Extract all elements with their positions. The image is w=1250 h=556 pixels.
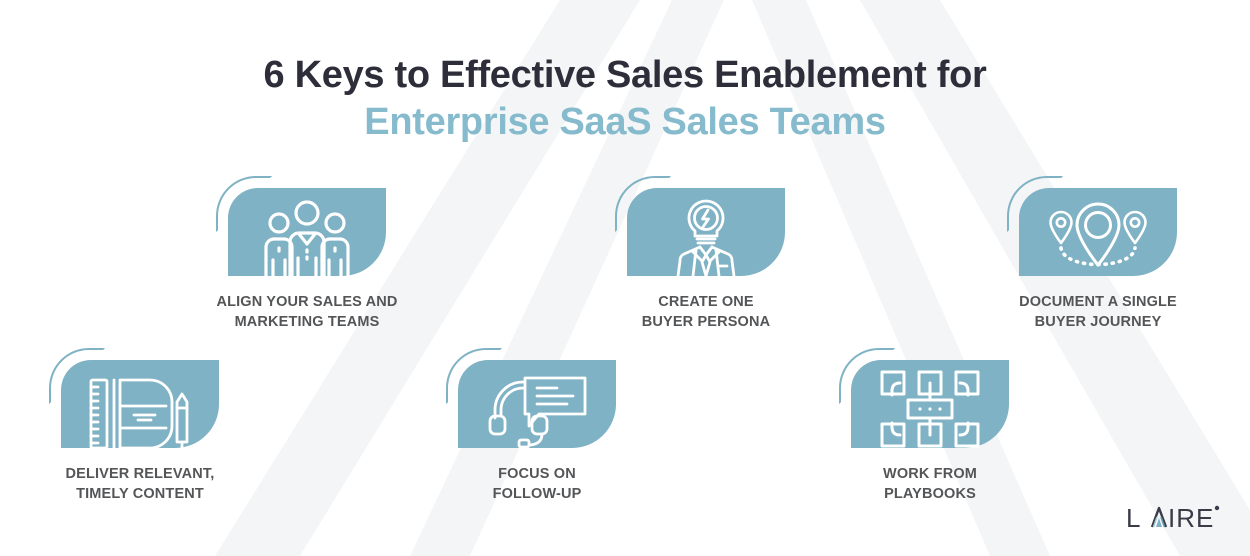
key-label-6: WORK FROM PLAYBOOKS xyxy=(800,464,1060,504)
key-label-wrap-6: WORK FROM PLAYBOOKS xyxy=(800,448,1060,504)
key-item-2[interactable]: CREATE ONE BUYER PERSONA xyxy=(627,188,785,276)
key-label-line2: PLAYBOOKS xyxy=(800,484,1060,504)
key-item-4[interactable]: DELIVER RELEVANT, TIMELY CONTENT xyxy=(61,360,219,448)
key-item-1[interactable]: ALIGN YOUR SALES AND MARKETING TEAMS xyxy=(228,188,386,276)
key-card-2 xyxy=(627,188,785,276)
logo-a-mark xyxy=(1152,508,1166,527)
laire-logo[interactable]: L IRE xyxy=(1126,503,1222,533)
key-label-wrap-2: CREATE ONE BUYER PERSONA xyxy=(576,276,836,332)
key-label-line2: BUYER PERSONA xyxy=(576,312,836,332)
key-label-wrap-5: FOCUS ON FOLLOW-UP xyxy=(407,448,667,504)
title-line-primary: 6 Keys to Effective Sales Enablement for xyxy=(0,52,1250,98)
headset-chat-icon xyxy=(458,360,616,448)
registered-mark xyxy=(1215,506,1219,510)
key-card-4 xyxy=(61,360,219,448)
key-card-1 xyxy=(228,188,386,276)
key-label-5: FOCUS ON FOLLOW-UP xyxy=(407,464,667,504)
map-pins-journey-icon xyxy=(1019,188,1177,276)
key-card-6 xyxy=(851,360,1009,448)
key-item-6[interactable]: WORK FROM PLAYBOOKS xyxy=(851,360,1009,448)
key-card-5 xyxy=(458,360,616,448)
lightbulb-person-icon xyxy=(627,188,785,276)
key-item-3[interactable]: DOCUMENT A SINGLE BUYER JOURNEY xyxy=(1019,188,1177,276)
flowchart-network-icon xyxy=(851,360,1009,448)
key-label-line2: TIMELY CONTENT xyxy=(10,484,270,504)
key-label-line2: BUYER JOURNEY xyxy=(968,312,1228,332)
key-label-1: ALIGN YOUR SALES AND MARKETING TEAMS xyxy=(177,292,437,332)
key-label-3: DOCUMENT A SINGLE BUYER JOURNEY xyxy=(968,292,1228,332)
key-item-5[interactable]: FOCUS ON FOLLOW-UP xyxy=(458,360,616,448)
key-label-line1: CREATE ONE xyxy=(576,292,836,312)
title-line-accent: Enterprise SaaS Sales Teams xyxy=(0,98,1250,146)
key-label-line2: MARKETING TEAMS xyxy=(177,312,437,332)
logo-letters-ire: IRE xyxy=(1168,503,1214,533)
three-people-icon xyxy=(228,188,386,276)
key-label-line1: DOCUMENT A SINGLE xyxy=(968,292,1228,312)
key-label-wrap-4: DELIVER RELEVANT, TIMELY CONTENT xyxy=(10,448,270,504)
key-label-line2: FOLLOW-UP xyxy=(407,484,667,504)
key-card-3 xyxy=(1019,188,1177,276)
key-label-line1: DELIVER RELEVANT, xyxy=(10,464,270,484)
infographic-root: 6 Keys to Effective Sales Enablement for… xyxy=(0,0,1250,556)
key-label-line1: WORK FROM xyxy=(800,464,1060,484)
key-label-wrap-3: DOCUMENT A SINGLE BUYER JOURNEY xyxy=(968,276,1228,332)
key-label-wrap-1: ALIGN YOUR SALES AND MARKETING TEAMS xyxy=(177,276,437,332)
key-label-2: CREATE ONE BUYER PERSONA xyxy=(576,292,836,332)
key-label-line1: FOCUS ON xyxy=(407,464,667,484)
key-label-line1: ALIGN YOUR SALES AND xyxy=(177,292,437,312)
key-label-4: DELIVER RELEVANT, TIMELY CONTENT xyxy=(10,464,270,504)
page-title: 6 Keys to Effective Sales Enablement for… xyxy=(0,52,1250,146)
logo-letter-l: L xyxy=(1126,503,1141,533)
notebook-ruler-pencil-icon xyxy=(61,360,219,448)
